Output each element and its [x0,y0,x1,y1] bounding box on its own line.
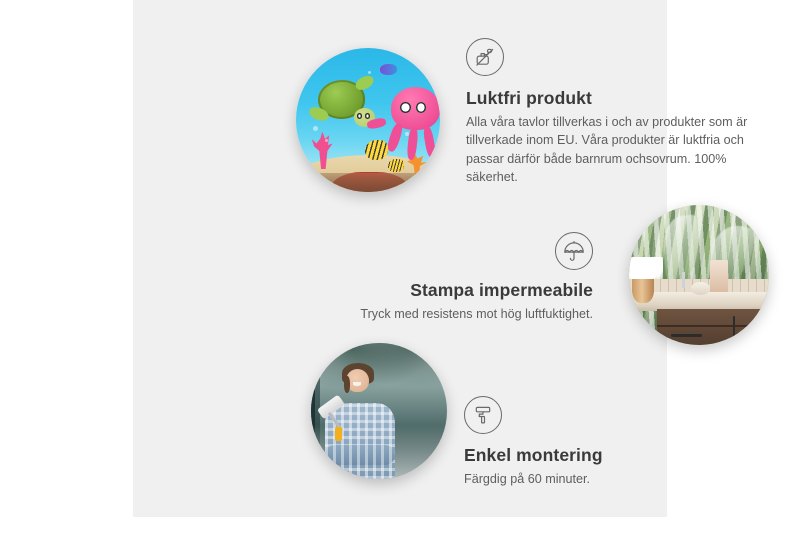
no-fragrance-icon [466,38,504,76]
umbrella-icon [555,232,593,270]
feature-assembly: Enkel montering Färgdig på 60 minuter. [464,396,724,488]
feature-description: Tryck med resistens mot hög luftfuktighe… [328,305,593,323]
paint-roller-icon [464,396,502,434]
feature-title: Stampa impermeabile [328,280,593,301]
painter-forest-circle-image [311,343,447,479]
feature-title: Enkel montering [464,445,724,466]
content-panel: Luktfri produkt Alla våra tavlor tillver… [133,0,667,517]
feature-description: Färgdig på 60 minuter. [464,470,724,488]
feature-description: Alla våra tavlor tillverkas i och av pro… [466,113,758,186]
screenshot-root: Luktfri produkt Alla våra tavlor tillver… [0,0,800,533]
feature-waterproof: Stampa impermeabile Tryck med resistens … [328,232,593,323]
bathroom-wallpaper-circle-image [629,205,769,345]
feature-odourless: Luktfri produkt Alla våra tavlor tillver… [466,38,758,186]
feature-title: Luktfri produkt [466,88,758,109]
underwater-cartoon-circle-image [296,48,440,192]
